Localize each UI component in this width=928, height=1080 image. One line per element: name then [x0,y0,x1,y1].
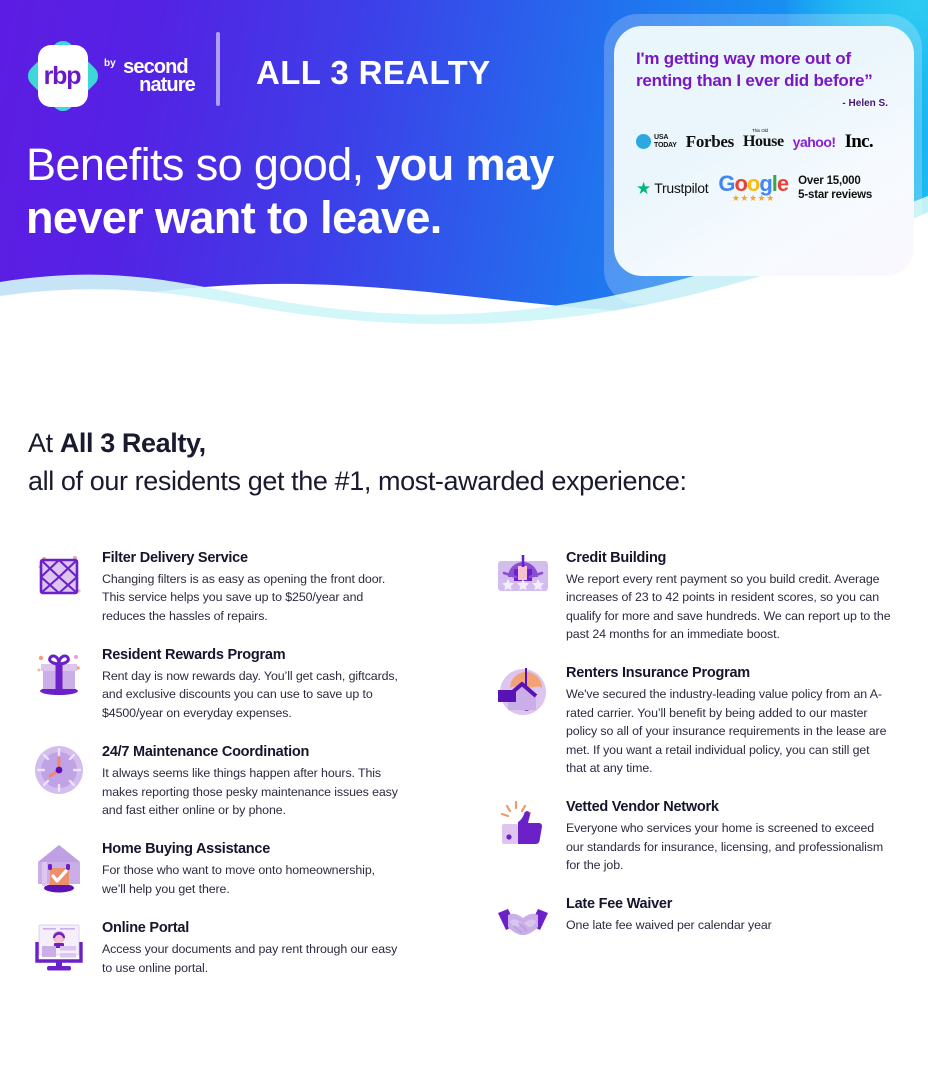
usa-today-dot-icon [636,134,651,149]
clock-icon [28,739,90,801]
benefits-column-right: Credit Building We report every rent pay… [492,545,892,970]
second-nature-wordmark: by second nature [104,57,195,95]
benefit-description: Everyone who services your home is scree… [566,819,892,874]
yahoo-logo: yahoo! [793,134,836,150]
testimonial-author: - Helen S. [636,98,892,109]
benefit-title: 24/7 Maintenance Coordination [102,744,398,760]
testimonial-card: I'm getting way more out of renting than… [614,26,914,276]
list-item-text: Home Buying Assistance For those who wan… [102,836,398,898]
logo-nature-line: nature [139,75,195,95]
google-letter-o1: o [734,171,746,196]
gift-icon [28,642,90,704]
desktop-monitor-icon [28,915,90,977]
usa-today-line2: TODAY [654,142,677,149]
benefit-description: One late fee waived per calendar year [566,916,892,934]
trustpilot-logo: ★ Trustpilot [636,180,708,197]
google-logo: Google ★★★★★ [718,173,788,204]
logo-second-nature-lines: second nature [123,57,195,95]
benefit-title: Vetted Vendor Network [566,799,892,815]
list-item-text: Late Fee Waiver One late fee waived per … [566,891,892,934]
trustpilot-label: Trustpilot [654,180,708,196]
this-old-house-text: House [743,133,784,151]
company-name: ALL 3 REALTY [256,54,491,92]
benefit-title: Online Portal [102,920,398,936]
usa-today-line1: USA [654,134,677,141]
list-item: Home Buying Assistance For those who wan… [28,836,398,898]
list-item-text: Online Portal Access your documents and … [102,915,398,977]
benefit-title: Filter Delivery Service [102,550,398,566]
google-wordmark: Google [718,173,788,195]
testimonial-quote: I'm getting way more out of renting than… [636,48,892,92]
benefit-description: Access your documents and pay rent throu… [102,940,398,977]
logo-rbp-text: rbp [44,64,81,89]
hero-headline-light: Benefits so good, [26,139,375,190]
usa-today-text: USA TODAY [654,134,677,149]
benefit-description: We've secured the industry-leading value… [566,685,892,777]
list-item: Late Fee Waiver One late fee waived per … [492,891,892,953]
reviews-row: ★ Trustpilot Google ★★★★★ Over 15,000 5-… [636,173,892,204]
benefit-description: Changing filters is as easy as opening t… [102,570,398,625]
handshake-icon [492,891,554,953]
reviews-count-text: Over 15,000 5-star reviews [798,174,872,203]
trustpilot-star-icon: ★ [636,180,651,197]
benefit-description: We report every rent payment so you buil… [566,570,892,643]
benefit-description: Rent day is now rewards day. You’ll get … [102,667,398,722]
hero-headline: Benefits so good, you may never want to … [26,138,586,244]
usa-today-logo: USA TODAY [636,134,677,149]
list-item: 24/7 Maintenance Coordination It always … [28,739,398,819]
rbp-second-nature-logo: rbp by second nature [26,38,195,114]
inc-logo: Inc. [845,131,873,153]
list-item-text: Credit Building We report every rent pay… [566,545,892,643]
press-logos-row: USA TODAY Forbes This Old House yahoo! I… [636,131,892,153]
google-letter-g1: G [718,171,734,196]
benefit-title: Late Fee Waiver [566,896,892,912]
logo-white-plate: rbp [38,45,88,107]
benefit-title: Home Buying Assistance [102,841,398,857]
list-item: Credit Building We report every rent pay… [492,545,892,643]
logo-by-label: by [104,59,116,69]
benefit-title: Credit Building [566,550,892,566]
list-item-text: Vetted Vendor Network Everyone who servi… [566,794,892,874]
list-item-text: Resident Rewards Program Rent day is now… [102,642,398,722]
list-item: Online Portal Access your documents and … [28,915,398,977]
reviews-line1: Over 15,000 [798,174,872,188]
list-item-text: Filter Delivery Service Changing filters… [102,545,398,625]
list-item-text: 24/7 Maintenance Coordination It always … [102,739,398,819]
google-letter-e: e [777,171,788,196]
umbrella-house-icon [492,660,554,722]
page-title-line2: all of our residents get the #1, most-aw… [28,462,868,500]
list-item: Renters Insurance Program We've secured … [492,660,892,777]
header-divider [216,32,220,106]
page-title-company: All 3 Realty, [60,428,206,458]
benefits-column-left: Filter Delivery Service Changing filters… [28,545,398,994]
google-letter-g2: g [759,171,771,196]
list-item: Filter Delivery Service Changing filters… [28,545,398,625]
air-filter-icon [28,545,90,607]
credit-badge-icon [492,545,554,607]
list-item: Resident Rewards Program Rent day is now… [28,642,398,722]
reviews-line2: 5-star reviews [798,188,872,202]
this-old-house-logo: This Old House [743,133,784,151]
thumbs-up-icon [492,794,554,856]
rbp-logo-mark: rbp [26,38,100,114]
benefit-title: Renters Insurance Program [566,665,892,681]
benefit-description: It always seems like things happen after… [102,764,398,819]
list-item: Vetted Vendor Network Everyone who servi… [492,794,892,874]
benefit-description: For those who want to move onto homeowne… [102,861,398,898]
google-letter-o2: o [747,171,759,196]
page-title-line1: At All 3 Realty, [28,424,868,462]
benefit-title: Resident Rewards Program [102,647,398,663]
this-old-house-sup: This Old [752,128,768,133]
forbes-logo: Forbes [686,132,734,152]
list-item-text: Renters Insurance Program We've secured … [566,660,892,777]
page-title: At All 3 Realty, all of our residents ge… [28,424,868,501]
page-title-prefix: At [28,428,60,458]
house-checkmark-icon [28,836,90,898]
marketing-flyer-page: rbp by second nature ALL 3 REALTY Benefi… [0,0,928,1080]
